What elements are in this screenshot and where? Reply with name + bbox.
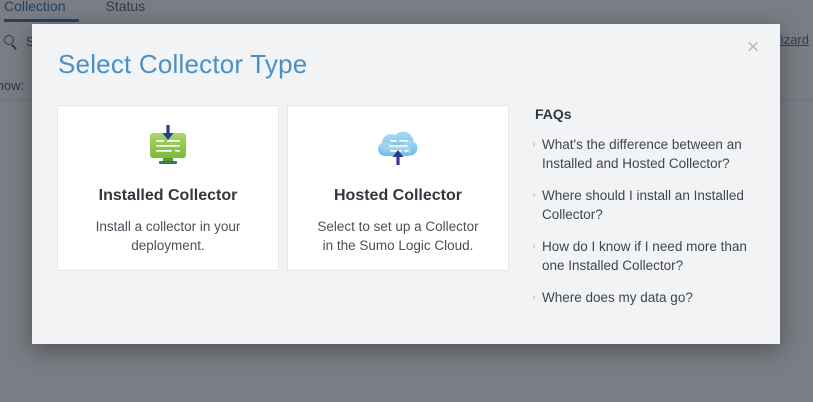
card-hosted-collector-description: Select to set up a Collector in the Sumo… [312,217,484,255]
faqs-section: FAQs › What's the difference between an … [532,106,758,320]
faq-item-label: How do I know if I need more than one In… [542,237,758,275]
faqs-heading: FAQs [535,106,758,122]
card-hosted-collector[interactable]: Hosted Collector Select to set up a Coll… [287,105,509,271]
chevron-right-icon: › [532,288,542,305]
faq-item-label: Where does my data go? [542,288,758,307]
card-hosted-collector-title: Hosted Collector [334,187,462,205]
card-installed-collector[interactable]: Installed Collector Install a collector … [57,105,279,271]
faq-item[interactable]: › Where should I install an Installed Co… [532,186,758,224]
collector-type-card-list: Installed Collector Install a collector … [57,105,509,271]
card-installed-collector-title: Installed Collector [99,187,238,205]
installed-collector-icon [142,125,194,171]
faq-item-label: Where should I install an Installed Coll… [542,186,758,224]
faq-item[interactable]: › What's the difference between an Insta… [532,135,758,173]
chevron-right-icon: › [532,237,542,254]
page-title: Select Collector Type [58,49,307,80]
chevron-right-icon: › [532,135,542,152]
faq-item[interactable]: › How do I know if I need more than one … [532,237,758,275]
faq-item[interactable]: › Where does my data go? [532,288,758,307]
select-collector-type-modal: Select Collector Type × [32,24,780,344]
card-installed-collector-description: Install a collector in your deployment. [82,217,254,255]
faq-item-label: What's the difference between an Install… [542,135,758,173]
chevron-right-icon: › [532,186,542,203]
close-icon[interactable]: × [740,34,766,60]
hosted-collector-icon [372,125,424,171]
